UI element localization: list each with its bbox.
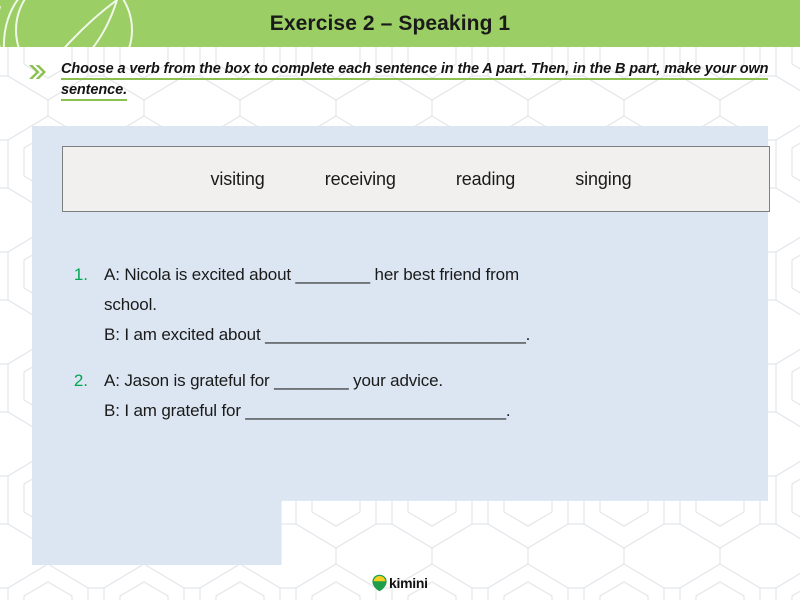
kimini-logo: kimini xyxy=(371,574,428,592)
kimini-leaf-logo-icon xyxy=(371,574,388,592)
header-bar: Exercise 2 – Speaking 1 xyxy=(0,0,800,47)
word-option-4[interactable]: singing xyxy=(575,169,631,190)
exercise-1-line-a1: A: Nicola is excited about ________ her … xyxy=(104,260,762,290)
exercise-2-line-b: B: I am grateful for ___________________… xyxy=(104,396,762,426)
word-option-2[interactable]: receiving xyxy=(325,169,396,190)
instruction-underlined-text: Choose a verb from the box to complete e… xyxy=(61,61,768,101)
page-title: Exercise 2 – Speaking 1 xyxy=(0,0,800,47)
exercise-item-1: 1. A: Nicola is excited about ________ h… xyxy=(62,260,762,350)
exercise-number-1: 1. xyxy=(62,260,88,290)
kimini-logo-text: kimini xyxy=(389,575,428,591)
exercise-number-2: 2. xyxy=(62,366,88,396)
exercise-2-line-a: A: Jason is grateful for ________ your a… xyxy=(104,366,762,396)
exercise-list: 1. A: Nicola is excited about ________ h… xyxy=(62,260,762,440)
word-option-1[interactable]: visiting xyxy=(210,169,264,190)
word-option-3[interactable]: reading xyxy=(456,169,515,190)
word-bank-box: visiting receiving reading singing xyxy=(62,146,770,212)
exercise-item-2: 2. A: Jason is grateful for ________ you… xyxy=(62,366,762,426)
double-chevron-right-icon xyxy=(28,64,46,80)
exercise-1-line-b: B: I am excited about __________________… xyxy=(104,320,762,350)
instruction-block: Choose a verb from the box to complete e… xyxy=(28,59,772,101)
instruction-text: Choose a verb from the box to complete e… xyxy=(61,59,772,101)
exercise-1-line-a2: school. xyxy=(104,290,762,320)
